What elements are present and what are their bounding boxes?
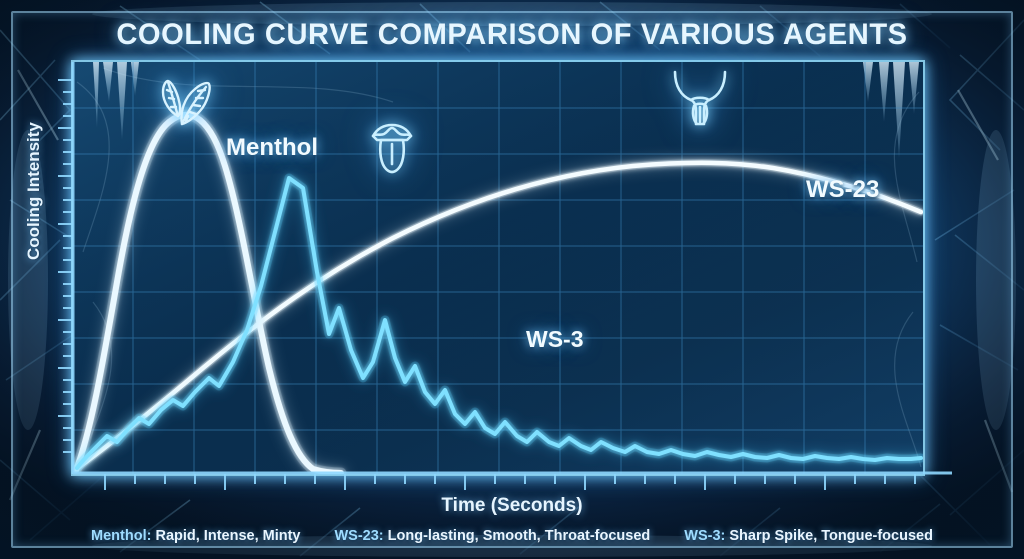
mint-leaf-icon [150,72,212,135]
page-title: COOLING CURVE COMPARISON OF VARIOUS AGEN… [15,18,1008,52]
caption-item-ws3: WS-3: Sharp Spike, Tongue-focused [684,528,933,544]
caption-key-ws23: WS-23: [334,528,383,544]
x-axis-label: Time (Seconds) [0,495,1024,517]
caption-key-menthol: Menthol: [91,528,151,544]
caption-key-ws3: WS-3: [684,528,725,544]
series-label-ws3: WS-3 [526,326,584,353]
caption-item-menthol: Menthol: Rapid, Intense, Minty [91,528,300,544]
legend-caption: Menthol: Rapid, Intense, Minty WS-23: Lo… [0,528,1024,544]
caption-item-ws23: WS-23: Long-lasting, Smooth, Throat-focu… [334,528,650,544]
caption-text-ws3: Sharp Spike, Tongue-focused [725,528,933,544]
caption-text-menthol: Rapid, Intense, Minty [151,528,300,544]
series-label-menthol: Menthol [226,134,318,162]
series-label-ws23: WS-23 [806,176,879,204]
throat-icon [665,70,735,131]
caption-text-ws23: Long-lasting, Smooth, Throat-focused [384,528,651,544]
tongue-icon [369,122,415,179]
y-axis-label: Cooling Intensity [24,60,44,260]
chart-image: COOLING CURVE COMPARISON OF VARIOUS AGEN… [0,0,1024,559]
